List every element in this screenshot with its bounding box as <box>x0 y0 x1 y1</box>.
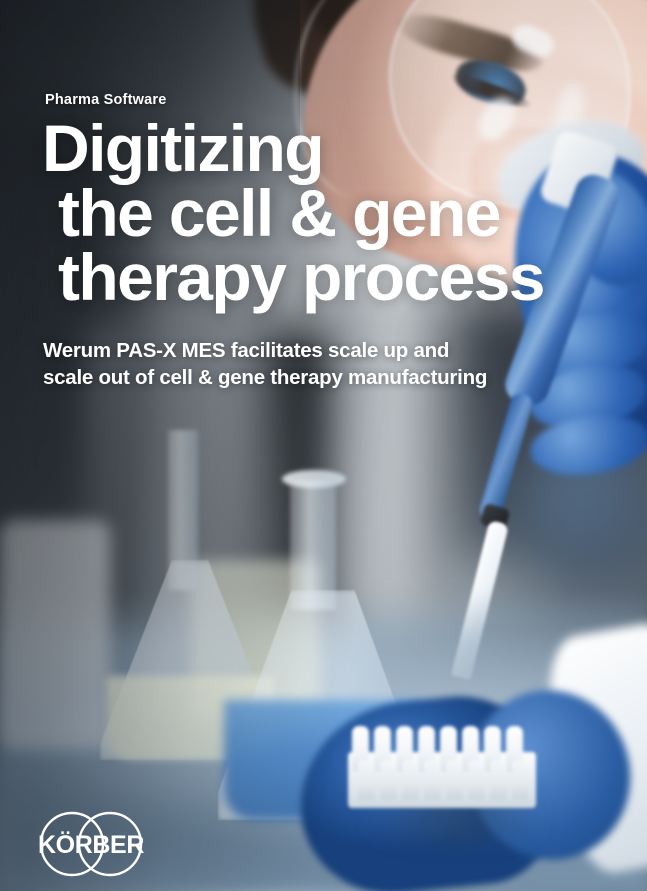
page-title: Digitizing the cell & gene therapy proce… <box>42 116 622 310</box>
cover-content: Pharma Software Digitizing the cell & ge… <box>0 0 647 891</box>
page-title-line-3: therapy process <box>42 245 622 310</box>
page-subtitle: Werum PAS-X MES facilitates scale up and… <box>43 338 603 391</box>
logo-wordmark: KÖRBER <box>38 830 144 859</box>
page-title-line-1: Digitizing <box>42 116 622 181</box>
korber-logo: KÖRBER <box>30 808 152 880</box>
page-subtitle-line-1: Werum PAS-X MES facilitates scale up and <box>43 338 603 365</box>
cover-page: Pharma Software Digitizing the cell & ge… <box>0 0 647 891</box>
eyebrow-label: Pharma Software <box>45 92 166 108</box>
page-title-line-2: the cell & gene <box>42 181 622 246</box>
page-subtitle-line-2: scale out of cell & gene therapy manufac… <box>43 365 603 392</box>
